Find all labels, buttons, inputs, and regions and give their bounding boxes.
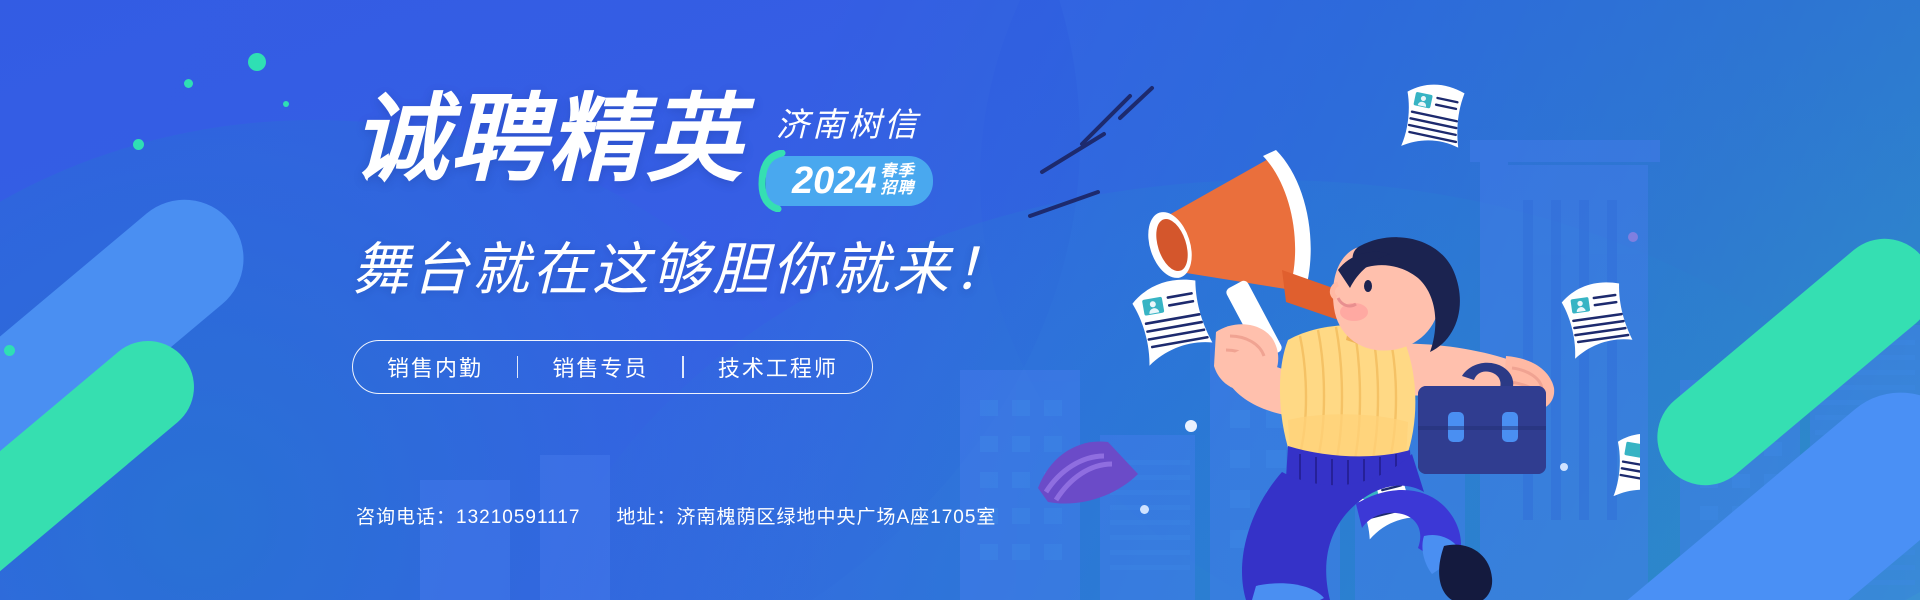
season-line-2: 招聘: [881, 181, 915, 198]
job-position-item[interactable]: 技术工程师: [718, 351, 838, 383]
job-position-item[interactable]: 销售专员: [552, 351, 648, 383]
recruiter-illustration: [1020, 40, 1640, 600]
address-value: 济南槐荫区绿地中央广场A座1705室: [676, 502, 996, 529]
decorative-dot: [283, 101, 289, 107]
phone-value[interactable]: 13210591117: [456, 507, 580, 529]
speech-lines-icon: [1030, 88, 1152, 216]
page-subtitle: 舞台就在这够胆你就来！: [352, 224, 1112, 306]
decorative-dot: [184, 79, 193, 88]
green-hook-icon: [756, 150, 790, 212]
job-separator: [682, 356, 683, 378]
resume-paper-icon: [1608, 428, 1640, 506]
eye: [1364, 280, 1372, 292]
year-badge: 2024 春季 招聘: [766, 156, 933, 206]
job-position-item[interactable]: 销售内勤: [387, 351, 483, 383]
page-title: 诚聘精英: [352, 92, 744, 188]
decorative-dot: [133, 139, 144, 150]
company-name: 济南树信: [766, 98, 933, 146]
contact-info: 咨询电话： 13210591117 地址： 济南槐荫区绿地中央广场A座1705室: [356, 502, 996, 529]
banner-text-block: 诚聘精英 济南树信 2024 春季 招聘 舞台就在这够胆你就来！ 销售内勤: [352, 92, 1112, 394]
year-label: 2024: [792, 162, 877, 200]
phone-label: 咨询电话：: [356, 502, 456, 529]
headline-row: 诚聘精英 济南树信 2024 春季 招聘: [352, 92, 1112, 206]
resume-paper-icon: [1396, 78, 1470, 157]
address-label: 地址：: [616, 502, 676, 529]
decorative-dot: [248, 53, 266, 71]
job-positions-pill: 销售内勤 销售专员 技术工程师: [352, 340, 873, 394]
right-shoe: [1439, 545, 1492, 600]
resume-paper-icon: [1130, 276, 1215, 367]
job-separator: [517, 356, 518, 378]
brand-stack: 济南树信 2024 春季 招聘: [766, 98, 933, 206]
season-line-1: 春季: [881, 164, 915, 181]
recruitment-banner: 诚聘精英 济南树信 2024 春季 招聘 舞台就在这够胆你就来！ 销售内勤: [0, 0, 1920, 600]
season-label: 春季 招聘: [881, 164, 915, 198]
decorative-dot: [4, 345, 15, 356]
resume-paper-icon: [1560, 279, 1634, 359]
